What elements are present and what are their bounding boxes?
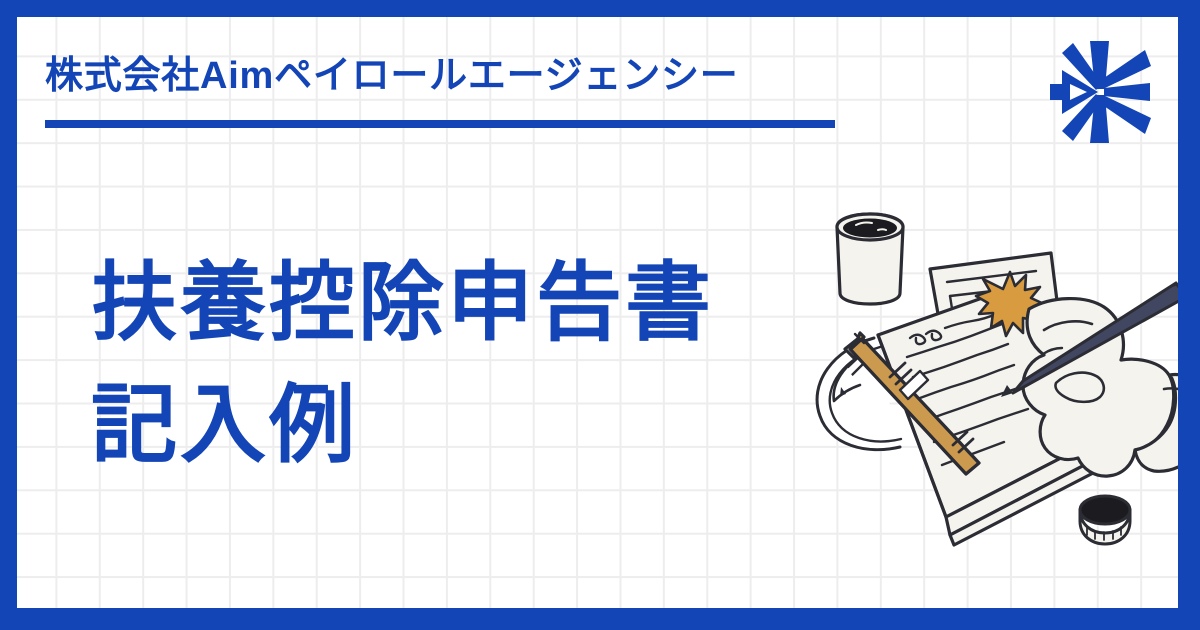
aim-asterisk-logo <box>1046 37 1156 147</box>
ring <box>1080 496 1130 544</box>
page-title: 扶養控除申告書 記入例 <box>91 242 714 486</box>
hand-writing-in-notebook-illustration <box>804 197 1178 597</box>
title-card: 株式会社Aimペイロールエージェンシー 扶養控除申告書 記入例 <box>0 0 1200 630</box>
header-underline <box>45 120 835 128</box>
coffee-cup-shape <box>837 214 903 304</box>
card-content: 株式会社Aimペイロールエージェンシー 扶養控除申告書 記入例 <box>17 17 1178 608</box>
page-title-line-1: 扶養控除申告書 <box>91 242 714 364</box>
white-panel: 株式会社Aimペイロールエージェンシー 扶養控除申告書 記入例 <box>17 17 1178 608</box>
hand <box>1023 299 1178 476</box>
page-title-line-2: 記入例 <box>91 364 714 486</box>
company-name: 株式会社Aimペイロールエージェンシー <box>45 57 738 95</box>
